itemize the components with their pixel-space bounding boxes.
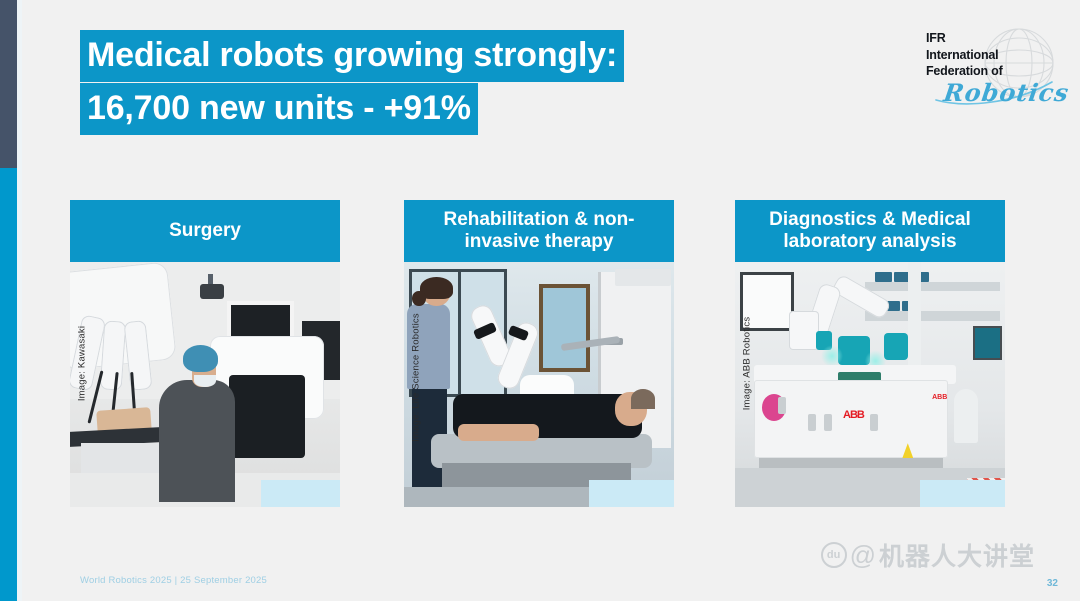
card-surgery-credit: Image: Kawasaki — [77, 269, 88, 459]
ifr-logo-script: Robotics — [942, 78, 1071, 107]
ifr-logo: IFR International Federation of Robotics — [926, 26, 1058, 112]
card-diagnostics[interactable]: Diagnostics & Medical laboratory analysi… — [735, 200, 1005, 507]
logo-line-2: International — [926, 47, 1003, 64]
watermark-at-symbol: @ — [850, 542, 876, 568]
left-edge-blue-bar — [0, 168, 17, 601]
diagnostics-scene-art: ABBABB — [735, 262, 1005, 507]
footer-source: World Robotics 2025 | 25 September 2025 — [80, 575, 267, 586]
card-diagnostics-growth-badge: +610% — [920, 480, 1005, 507]
left-edge-dark-bar — [0, 0, 17, 168]
watermark-text: 机器人大讲堂 — [879, 537, 1035, 573]
card-surgery[interactable]: Surgery Image: Kawasaki +41% — [70, 200, 340, 507]
page-number: 32 — [1047, 578, 1058, 589]
surgery-scene-art — [70, 262, 340, 507]
card-diagnostics-credit: Image: ABB Robotics — [742, 269, 753, 459]
watermark: du @ 机器人大讲堂 — [821, 537, 1035, 573]
slide-title-line-1: Medical robots growing strongly: — [80, 30, 624, 82]
card-surgery-photo: Image: Kawasaki +41% — [70, 262, 340, 507]
rehabilitation-scene-art — [404, 262, 674, 507]
left-edge-gap — [17, 0, 22, 601]
slide-title: Medical robots growing strongly: 16,700 … — [80, 30, 700, 135]
logo-line-1: IFR — [926, 30, 1003, 47]
card-surgery-growth-badge: +41% — [261, 480, 340, 507]
slide-title-line-2: 16,700 new units - +91% — [80, 83, 478, 135]
card-diagnostics-header: Diagnostics & Medical laboratory analysi… — [735, 200, 1005, 262]
card-rehabilitation-credit: Image: Life Science Robotics — [411, 283, 422, 473]
card-rehabilitation-photo: Image: Life Science Robotics +106% — [404, 262, 674, 507]
card-rehabilitation[interactable]: Rehabilitation & non-invasive therapy Im… — [404, 200, 674, 507]
baidu-paw-icon: du — [821, 542, 847, 568]
card-surgery-header: Surgery — [70, 200, 340, 262]
card-rehabilitation-growth-badge: +106% — [589, 480, 674, 507]
card-rehabilitation-header: Rehabilitation & non-invasive therapy — [404, 200, 674, 262]
card-diagnostics-photo: ABBABB Image: ABB Robotics +610% — [735, 262, 1005, 507]
